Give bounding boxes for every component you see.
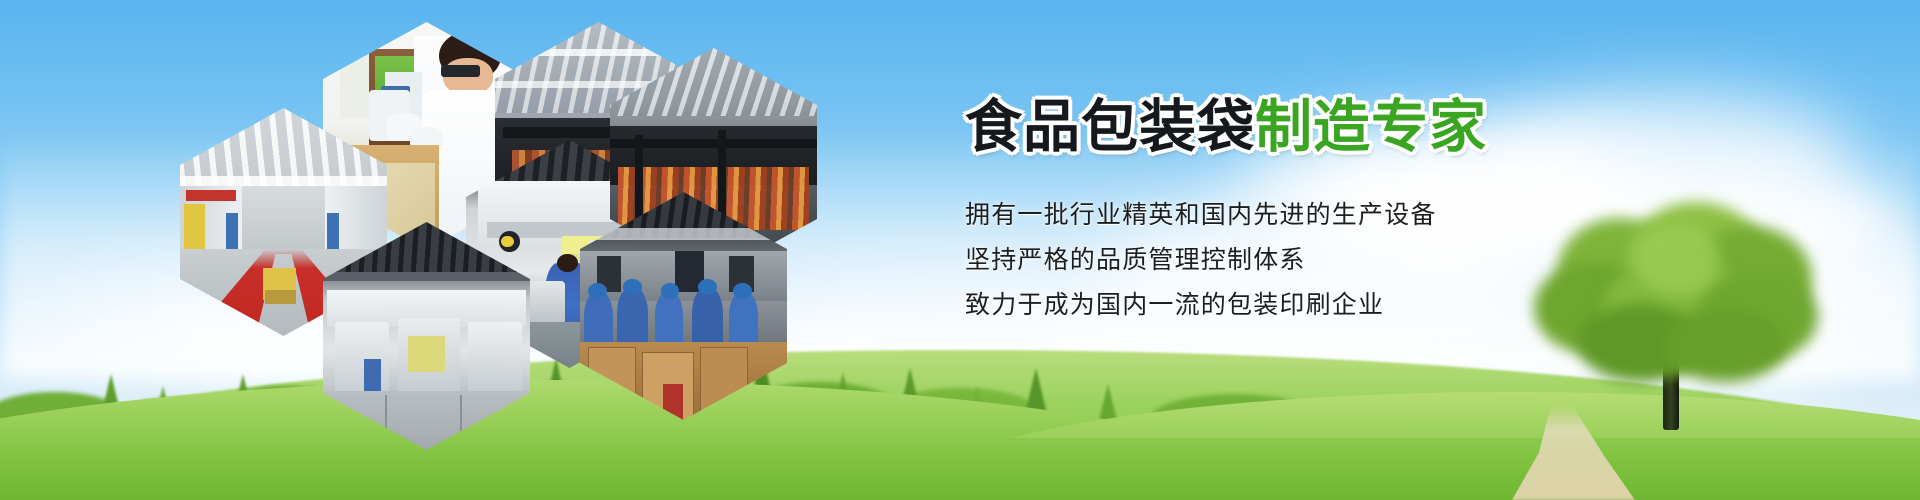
page-title: 食品包装袋制造专家 [965, 96, 1725, 158]
headline-green-part: 制造专家 [1255, 94, 1487, 160]
grass-foreground [0, 438, 1920, 500]
hex-photo-cluster [0, 0, 820, 390]
subheadline-list: 拥有一批行业精英和国内先进的生产设备 坚持严格的品质管理控制体系 致力于成为国内… [965, 192, 1725, 327]
hero-banner: 食品包装袋制造专家 拥有一批行业精英和国内先进的生产设备 坚持严格的品质管理控制… [0, 0, 1920, 500]
subheadline-item-2: 坚持严格的品质管理控制体系 [965, 237, 1725, 282]
headline-block: 食品包装袋制造专家 拥有一批行业精英和国内先进的生产设备 坚持严格的品质管理控制… [965, 96, 1725, 327]
headline-dark-part: 食品包装袋 [965, 94, 1255, 160]
subheadline-item-3: 致力于成为国内一流的包装印刷企业 [965, 282, 1725, 327]
subheadline-item-1: 拥有一批行业精英和国内先进的生产设备 [965, 192, 1725, 237]
